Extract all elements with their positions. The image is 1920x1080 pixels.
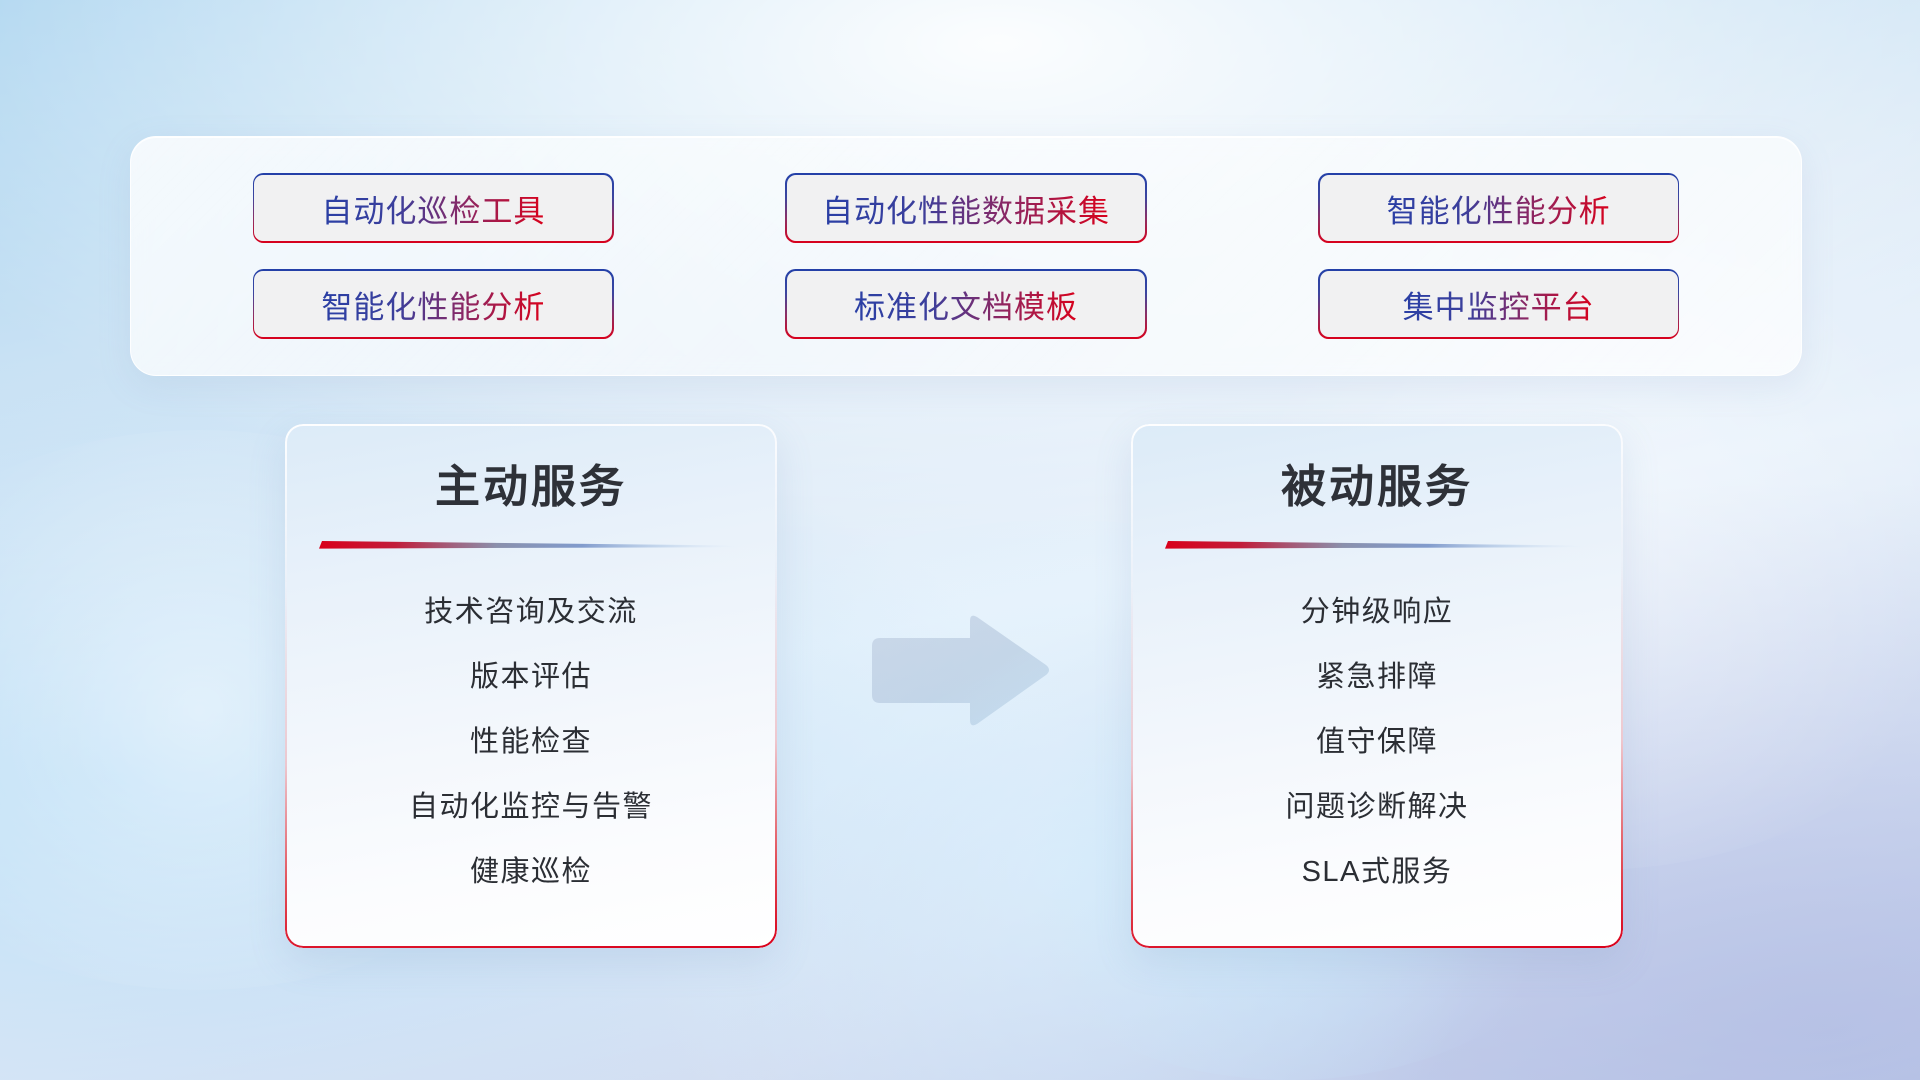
list-item: 性能检查 [285, 710, 777, 775]
capability-pill-label: 标准化文档模板 [854, 282, 1078, 327]
capability-pill-centralized-monitoring-platform[interactable]: 集中监控平台 [1320, 271, 1678, 337]
list-item: 自动化监控与告警 [285, 775, 777, 840]
capability-pill-label: 智能化性能分析 [1387, 186, 1611, 231]
capability-pill-intelligent-performance-analysis-1[interactable]: 智能化性能分析 [1320, 175, 1678, 241]
service-list-proactive: 技术咨询及交流 版本评估 性能检查 自动化监控与告警 健康巡检 [285, 580, 777, 905]
capability-pill-automated-performance-data-collection[interactable]: 自动化性能数据采集 [787, 175, 1145, 241]
card-title-proactive: 主动服务 [285, 450, 777, 515]
list-item: 问题诊断解决 [1131, 775, 1623, 840]
list-item: 版本评估 [285, 645, 777, 710]
gradient-rule-icon [1165, 539, 1589, 550]
card-title-reactive: 被动服务 [1131, 450, 1623, 515]
capability-pill-label: 智能化性能分析 [321, 282, 545, 327]
capability-pill-label: 集中监控平台 [1403, 282, 1595, 327]
slide-canvas: 自动化巡检工具 自动化性能数据采集 智能化性能分析 智能化性能分析 标准化文档模… [0, 0, 1920, 1080]
service-card-reactive[interactable]: 被动服务 分钟级响应 紧急排障 值守保障 [1131, 424, 1623, 948]
service-list-reactive: 分钟级响应 紧急排障 值守保障 问题诊断解决 SLA式服务 [1131, 580, 1623, 905]
list-item: SLA式服务 [1131, 840, 1623, 905]
service-card-proactive[interactable]: 主动服务 技术咨询及交流 版本评估 性能检查 [285, 424, 777, 948]
list-item: 紧急排障 [1131, 645, 1623, 710]
list-item: 健康巡检 [285, 840, 777, 905]
capability-pill-label: 自动化巡检工具 [321, 186, 545, 231]
list-item: 技术咨询及交流 [285, 580, 777, 645]
capability-pill-label: 自动化性能数据采集 [822, 186, 1110, 231]
capability-pill-intelligent-performance-analysis-2[interactable]: 智能化性能分析 [254, 271, 612, 337]
capability-pill-standardized-doc-template[interactable]: 标准化文档模板 [787, 271, 1145, 337]
gradient-rule-icon [319, 539, 743, 550]
list-item: 值守保障 [1131, 710, 1623, 775]
capability-tags-panel: 自动化巡检工具 自动化性能数据采集 智能化性能分析 智能化性能分析 标准化文档模… [130, 136, 1802, 376]
arrow-right-icon [866, 612, 1052, 730]
capability-pill-automated-inspection-tool[interactable]: 自动化巡检工具 [254, 175, 612, 241]
list-item: 分钟级响应 [1131, 580, 1623, 645]
